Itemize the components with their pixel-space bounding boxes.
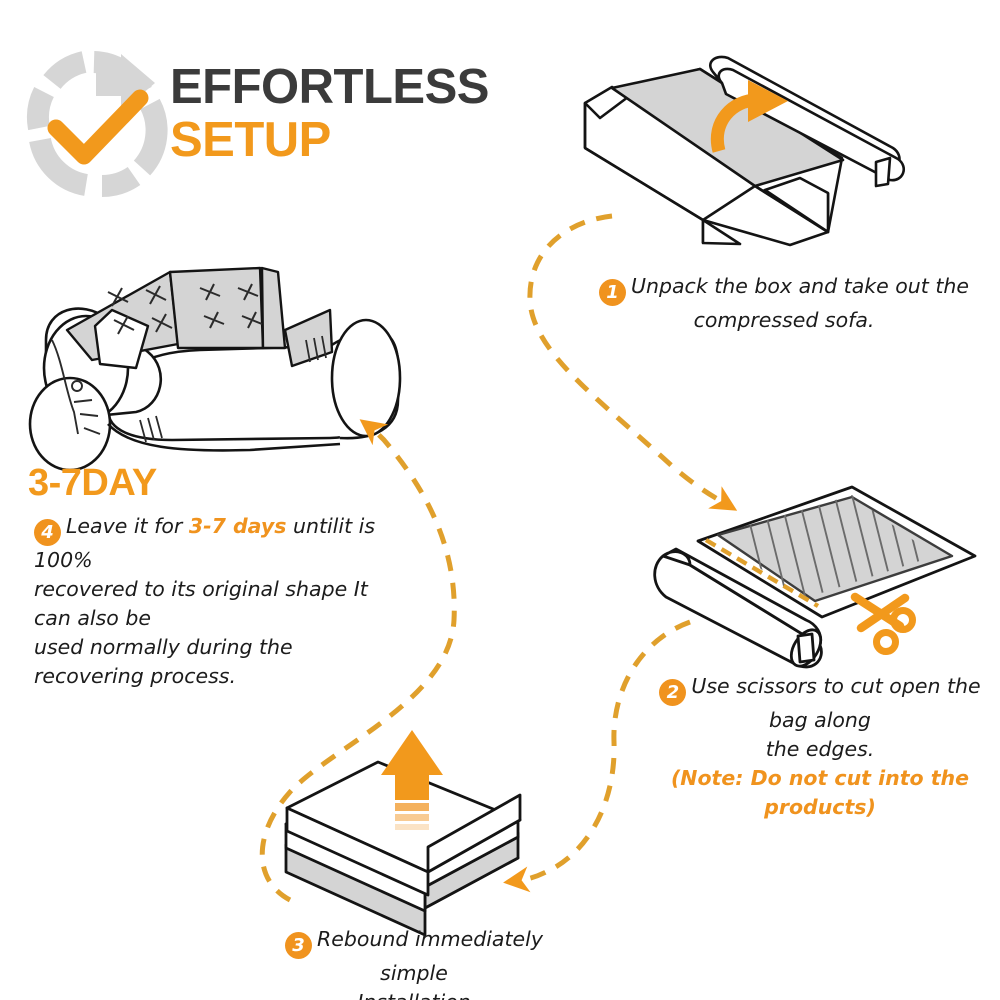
step-2-line-1: Use scissors to cut open the bag along xyxy=(691,674,980,732)
scissors-icon xyxy=(855,597,913,652)
step-1-text: 1Unpack the box and take out the compres… xyxy=(598,272,970,335)
step-4-line-3: used normally during the recovering proc… xyxy=(34,633,386,691)
infographic-canvas: EFFORTLESS SETUP 1Unpack the box and tak… xyxy=(0,0,1000,1000)
step-2-line-2: the edges. xyxy=(766,737,875,761)
step-4-part-1: Leave it for xyxy=(66,514,189,538)
logo xyxy=(28,55,160,187)
title-line-effortless: EFFORTLESS xyxy=(170,62,540,113)
title-line-setup: SETUP xyxy=(170,115,540,166)
step-1-line-1: Unpack the box and take out the xyxy=(631,274,969,298)
step-3-text: 3Rebound immediately simple Installation xyxy=(272,925,556,1000)
vacuum-bag-illustration xyxy=(655,485,975,671)
step-4-line-2: recovered to its original shape It can a… xyxy=(34,575,386,633)
step-3-badge: 3 xyxy=(285,932,312,959)
step-2-badge: 2 xyxy=(659,679,686,706)
step-1-badge: 1 xyxy=(599,279,626,306)
step-4-text: 4Leave it for 3-7 days untilit is 100% r… xyxy=(34,512,386,692)
header: EFFORTLESS SETUP xyxy=(28,52,548,192)
step-3-line-1: Rebound immediately simple xyxy=(317,927,543,985)
step-4-heading: 3-7DAY xyxy=(28,462,157,505)
step-4-badge: 4 xyxy=(34,519,61,546)
step-3-line-2: Installation xyxy=(357,990,471,1000)
step-2-text: 2Use scissors to cut open the bag along … xyxy=(650,672,990,822)
step-2-note: (Note: Do not cut into the products) xyxy=(671,766,969,819)
cardboard-box-illustration xyxy=(585,69,843,250)
page-title: EFFORTLESS SETUP xyxy=(170,62,540,167)
step-1-line-2: compressed sofa. xyxy=(694,308,875,332)
step-4-highlight: 3-7 days xyxy=(189,514,287,538)
flow-arrow-1-to-2 xyxy=(530,216,726,504)
